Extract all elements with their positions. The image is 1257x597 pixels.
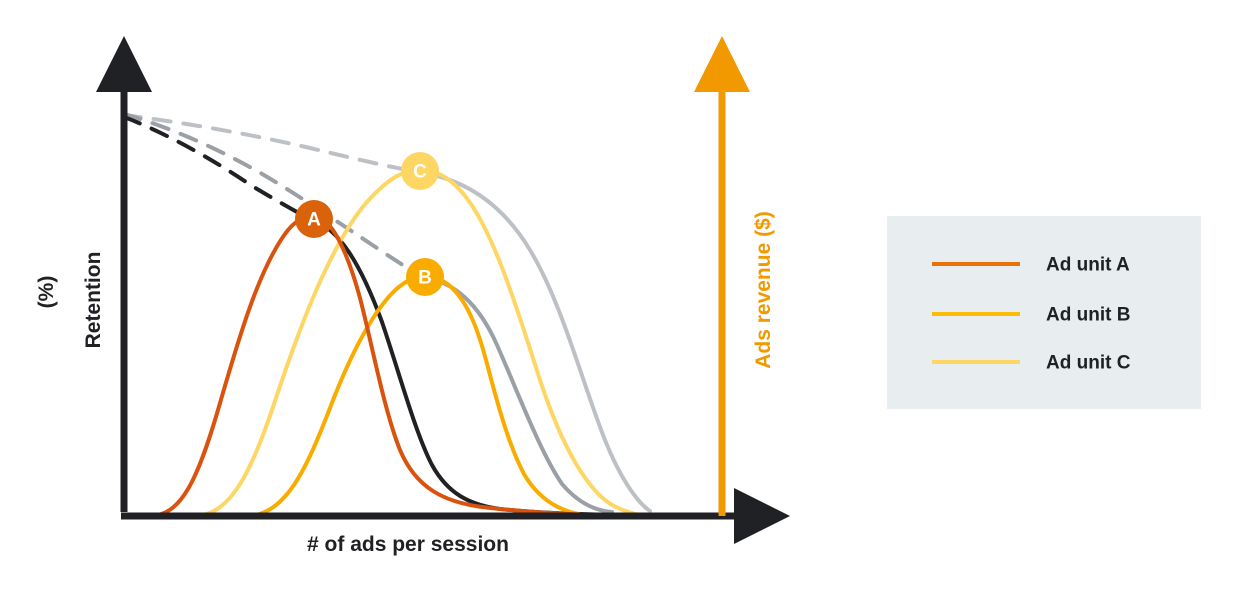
legend: Ad unit A Ad unit B Ad unit C xyxy=(887,216,1201,409)
peak-marker-c-label: C xyxy=(413,162,427,183)
y-axis-left-title-line2: (%) xyxy=(35,276,58,309)
peak-marker-b-label: B xyxy=(418,268,432,289)
peak-marker-c[interactable]: C xyxy=(401,152,439,190)
retention-curve-c-dashed xyxy=(124,115,418,172)
ads-revenue-curve-c xyxy=(196,170,652,516)
retention-curve-a-dashed xyxy=(124,117,312,220)
retention-curve-c-solid xyxy=(418,172,650,511)
legend-label-ad-unit-c: Ad unit C xyxy=(1046,353,1131,374)
peak-marker-b[interactable]: B xyxy=(406,258,444,296)
peak-markers-group: C A B xyxy=(295,152,444,296)
y-axis-right-title: Ads revenue ($) xyxy=(752,211,775,369)
legend-label-ad-unit-a: Ad unit A xyxy=(1046,255,1130,276)
chart-canvas: Retention (%) # of ads per session Ads r… xyxy=(0,0,1257,597)
y-axis-left-title-line1: Retention xyxy=(82,252,105,349)
axis-titles-group: Retention (%) # of ads per session Ads r… xyxy=(35,211,775,556)
axes-group xyxy=(121,78,748,516)
legend-label-ad-unit-b: Ad unit B xyxy=(1046,305,1130,326)
ads-revenue-retention-chart: Retention (%) # of ads per session Ads r… xyxy=(0,0,1257,597)
peak-marker-a[interactable]: A xyxy=(295,200,333,238)
peak-marker-a-label: A xyxy=(307,210,321,231)
retention-curve-a-solid xyxy=(312,220,644,515)
x-axis-title: # of ads per session xyxy=(307,533,509,556)
ads-revenue-curves-group xyxy=(152,170,652,517)
